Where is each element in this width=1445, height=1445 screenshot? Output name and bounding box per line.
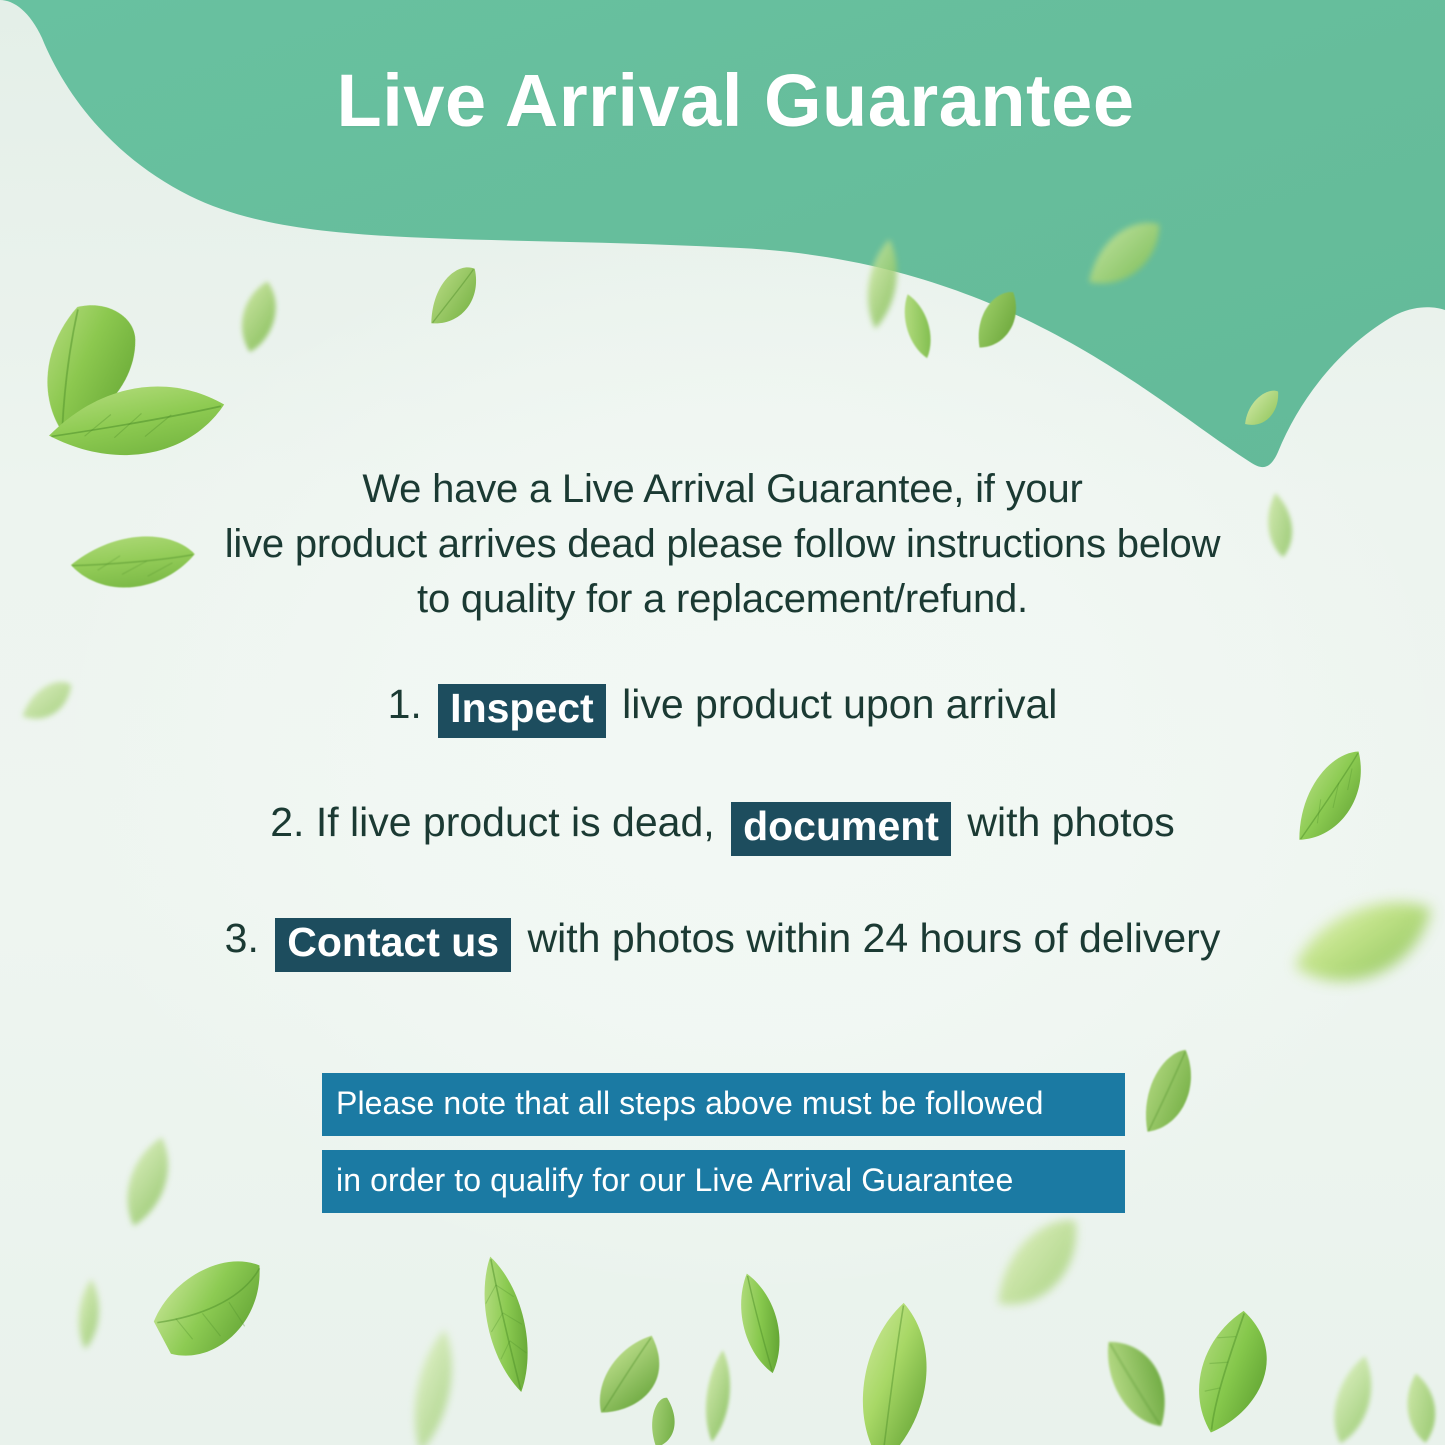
leaf-icon (976, 1212, 1103, 1323)
leaf-icon (1394, 1367, 1445, 1445)
step-highlight-inspect: Inspect (438, 684, 606, 738)
intro-line-3: to quality for a replacement/refund. (0, 572, 1445, 627)
leaf-icon (69, 1275, 108, 1353)
leaf-icon (1169, 1299, 1311, 1439)
note-banner: Please note that all steps above must be… (322, 1073, 1125, 1213)
leaf-icon (136, 1237, 299, 1388)
step-item-3: 3. Contact us with photos within 24 hour… (0, 918, 1445, 972)
note-line-2: in order to qualify for our Live Arrival… (322, 1150, 1125, 1213)
page-title: Live Arrival Guarantee (0, 62, 1445, 140)
step-number: 2. (270, 799, 304, 845)
step-text-after: live product upon arrival (622, 681, 1057, 727)
steps-list: 1. Inspect live product upon arrival 2. … (0, 678, 1445, 972)
step-text-after: with photos within 24 hours of delivery (528, 915, 1221, 961)
leaf-icon (461, 1247, 552, 1401)
leaf-icon (1317, 1347, 1391, 1445)
intro-line-2: live product arrives dead please follow … (0, 517, 1445, 572)
step-text-before: If live product is dead, (316, 799, 715, 845)
leaf-icon (105, 1125, 192, 1238)
leaf-icon (581, 1319, 691, 1438)
step-number: 3. (225, 915, 259, 961)
step-highlight-document: document (731, 802, 951, 856)
leaf-icon (842, 1297, 953, 1445)
leaf-icon (720, 1263, 802, 1384)
step-number: 1. (388, 681, 422, 727)
step-item-2: 2. If live product is dead, document wit… (0, 802, 1445, 856)
note-line-1: Please note that all steps above must be… (322, 1073, 1125, 1136)
poster-canvas: Live Arrival Guarantee (0, 0, 1445, 1445)
leaf-icon (1078, 1316, 1202, 1445)
intro-line-1: We have a Live Arrival Guarantee, if you… (0, 462, 1445, 517)
leaf-icon (631, 1393, 693, 1445)
intro-paragraph: We have a Live Arrival Guarantee, if you… (0, 462, 1445, 628)
step-highlight-contact-us: Contact us (275, 918, 511, 972)
leaf-icon (695, 1344, 741, 1445)
leaf-icon (1116, 1044, 1220, 1142)
step-item-1: 1. Inspect live product upon arrival (0, 684, 1445, 738)
leaf-icon (397, 1322, 471, 1445)
step-text-after: with photos (967, 799, 1174, 845)
